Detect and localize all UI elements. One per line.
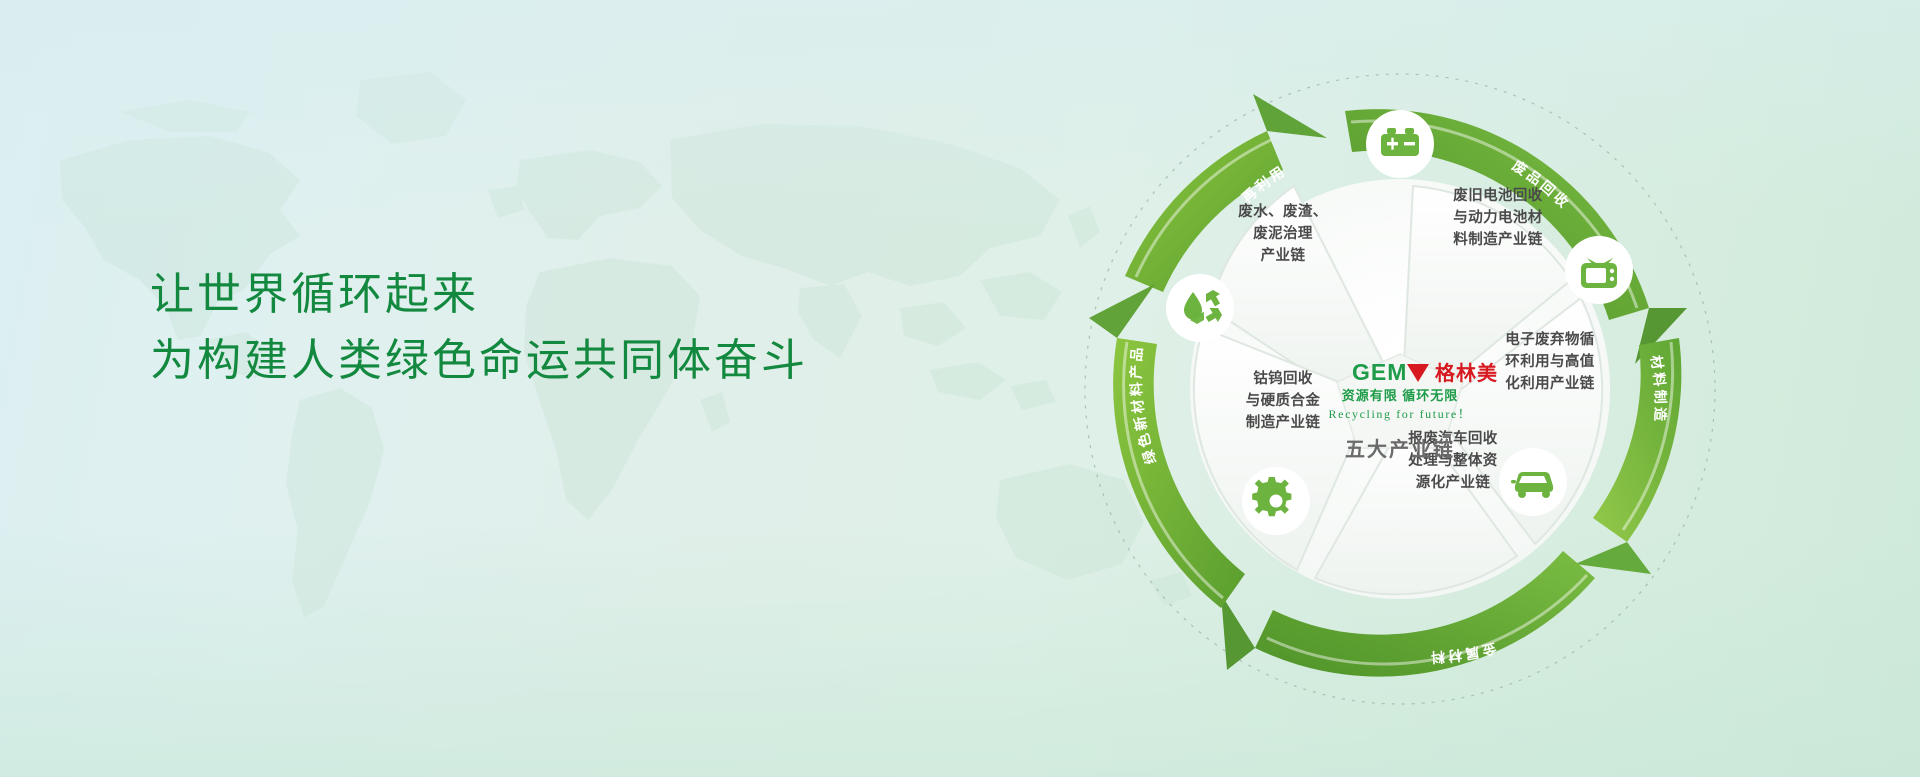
svg-text:钴钨回收: 钴钨回收	[1253, 369, 1313, 387]
headline-line-1: 让世界循环起来	[150, 262, 808, 328]
headline-block: 让世界循环起来 为构建人类绿色命运共同体奋斗	[150, 262, 808, 394]
svg-text:产业链: 产业链	[1261, 246, 1306, 264]
gem-chinese-name: 格林美	[1435, 361, 1498, 385]
center-title: 五大产业链	[1345, 437, 1455, 461]
segment-label-battery: 废旧电池回收 与动力电池材 料制造产业链	[1453, 186, 1542, 248]
svg-text:废泥治理: 废泥治理	[1253, 224, 1313, 242]
svg-text:与动力电池材: 与动力电池材	[1453, 208, 1542, 226]
inner-segment-wheel: 废水、废渣、 废泥治理 产业链 废旧电池回收 与动力电池材 料制造产业链 电子废…	[1190, 178, 1610, 599]
svg-text:废旧电池回收: 废旧电池回收	[1453, 186, 1542, 204]
segment-label-e-waste: 电子废弃物循 环利用与高值 化利用产业链	[1505, 330, 1594, 392]
segment-label-cobalt-tungsten: 钴钨回收 与硬质合金 制造产业链	[1246, 369, 1321, 431]
icon-bubble-car[interactable]	[1499, 448, 1567, 516]
center-slogan-cn: 资源有限 循环无限	[1342, 388, 1459, 403]
svg-text:源化产业链: 源化产业链	[1416, 473, 1491, 491]
icon-bubble-television[interactable]	[1565, 236, 1633, 304]
svg-text:环利用与高值: 环利用与高值	[1505, 352, 1594, 370]
svg-text:废水、废渣、: 废水、废渣、	[1238, 202, 1327, 220]
center-slogan-en: Recycling for future！	[1329, 407, 1472, 421]
gem-wordmark: GEM	[1352, 359, 1407, 385]
svg-text:料制造产业链: 料制造产业链	[1453, 230, 1542, 248]
icon-bubble-gear[interactable]	[1242, 467, 1310, 535]
svg-text:化利用产业链: 化利用产业链	[1505, 374, 1594, 392]
headline-line-2: 为构建人类绿色命运共同体奋斗	[150, 328, 808, 394]
icon-bubble-battery[interactable]	[1366, 110, 1434, 178]
eco-banner: 让世界循环起来 为构建人类绿色命运共同体奋斗	[0, 0, 1920, 777]
icon-bubble-recycle-drop[interactable]	[1166, 274, 1234, 342]
svg-text:与硬质合金: 与硬质合金	[1246, 391, 1321, 409]
gear-icon	[1252, 477, 1291, 516]
five-industry-chain-diagram: 再利用 废品回收 材料制造 金属材料 绿色新材料产品	[1015, 8, 1785, 770]
svg-text:电子废弃物循: 电子废弃物循	[1505, 330, 1594, 348]
svg-text:制造产业链: 制造产业链	[1246, 413, 1321, 431]
